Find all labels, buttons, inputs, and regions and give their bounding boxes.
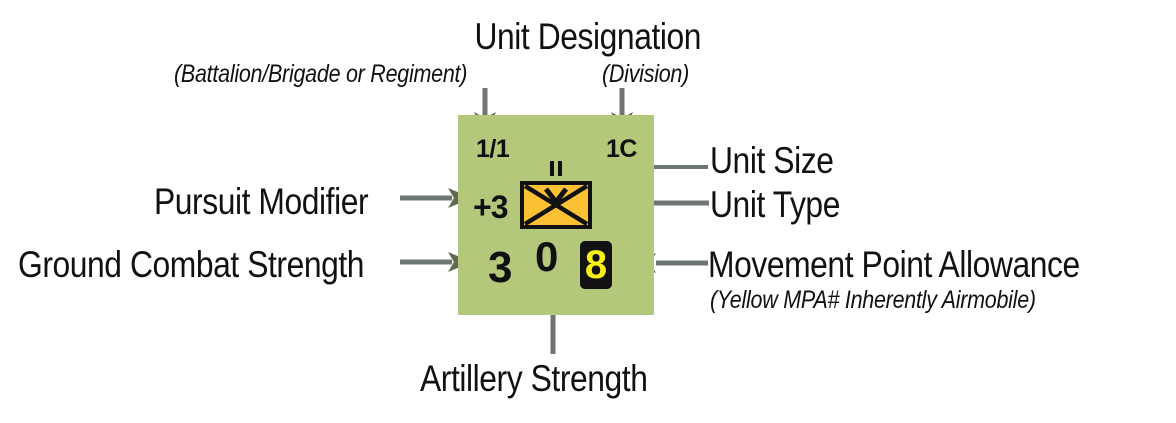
callout-unit-type: Unit Type	[710, 186, 861, 223]
unit-counter[interactable]: 1/1 1C +3 3 0 8	[458, 115, 654, 315]
counter-designation-left: 1/1	[476, 137, 509, 162]
callout-unit-size-text: Unit Size	[710, 142, 833, 179]
counter-artillery-strength: 0	[535, 236, 558, 278]
callout-ground-combat-strength-text: Ground Combat Strength	[18, 246, 364, 283]
callout-ground-combat-strength: Ground Combat Strength	[18, 246, 420, 283]
callout-artillery-strength: Artillery Strength	[420, 360, 685, 397]
callout-movement-point-allowance-note: (Yellow MPA# Inherently Airmobile)	[710, 288, 1089, 313]
unit-size-bar	[558, 161, 562, 176]
page-title: Unit Designation	[0, 18, 1176, 55]
callout-movement-point-allowance: Movement Point Allowance	[708, 246, 1140, 283]
infantry-airmobile-icon	[524, 185, 588, 225]
unit-designation-left-note-text: (Battalion/Brigade or Regiment)	[174, 62, 467, 87]
counter-movement-point-allowance: 8	[580, 245, 612, 285]
callout-pursuit-modifier-text: Pursuit Modifier	[154, 183, 368, 220]
callout-pursuit-modifier: Pursuit Modifier	[154, 183, 403, 220]
counter-movement-point-allowance-box: 8	[580, 241, 612, 289]
callout-movement-point-allowance-note-text: (Yellow MPA# Inherently Airmobile)	[710, 288, 1036, 313]
callout-unit-type-text: Unit Type	[710, 186, 840, 223]
counter-unit-size-symbol	[550, 161, 562, 176]
page-title-text: Unit Designation	[475, 18, 702, 55]
unit-designation-left-note: (Battalion/Brigade or Regiment)	[174, 62, 515, 87]
counter-ground-combat-strength: 3	[488, 246, 512, 290]
counter-designation-right: 1C	[606, 137, 637, 162]
counter-pursuit-modifier: +3	[473, 191, 507, 223]
unit-designation-right-note: (Division)	[602, 62, 703, 87]
callout-artillery-strength-text: Artillery Strength	[420, 360, 647, 397]
counter-unit-type-symbol	[520, 181, 592, 229]
unit-designation-right-note-text: (Division)	[602, 62, 689, 87]
unit-size-bar	[550, 161, 554, 176]
unit-counter-legend-diagram: Unit Designation (Battalion/Brigade or R…	[0, 0, 1176, 423]
callout-movement-point-allowance-text: Movement Point Allowance	[708, 246, 1080, 283]
callout-unit-size: Unit Size	[710, 142, 854, 179]
